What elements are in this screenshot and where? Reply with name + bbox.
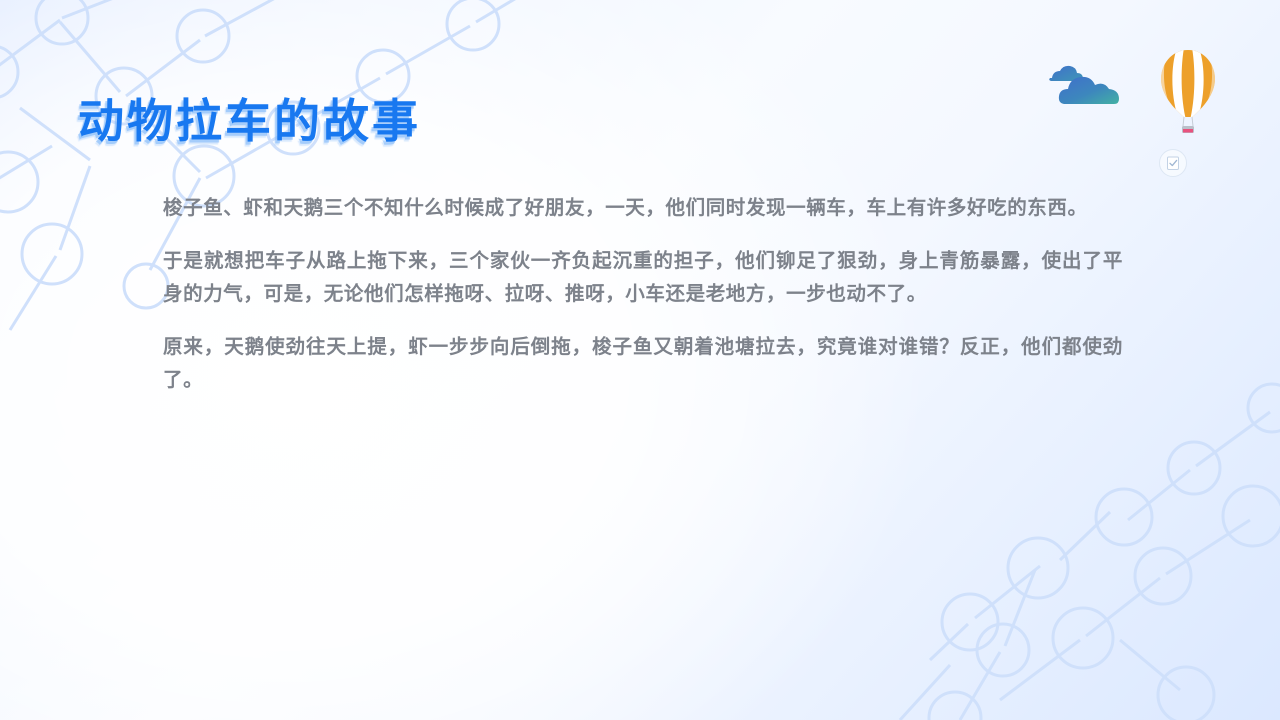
title-block: 动物拉车的故事 — [78, 96, 421, 148]
body-text-block: 梭子鱼、虾和天鹅三个不知什么时候成了好朋友，一天，他们同时发现一辆车，车上有许多… — [163, 192, 1123, 398]
paragraph-2: 于是就想把车子从路上拖下来，三个家伙一齐负起沉重的担子，他们铆足了狠劲，身上青筋… — [163, 245, 1123, 312]
cloud-icon — [1036, 58, 1136, 114]
document-check-icon — [1158, 148, 1188, 178]
paragraph-3: 原来，天鹅使劲往天上提，虾一步步向后倒拖，梭子鱼又朝着池塘拉去，究竟谁对谁错？反… — [163, 331, 1123, 398]
slide-canvas: 动物拉车的故事 梭子鱼、虾和天鹅三个不知什么时候成了好朋友，一天，他们同时发现一… — [0, 0, 1280, 720]
paragraph-1: 梭子鱼、虾和天鹅三个不知什么时候成了好朋友，一天，他们同时发现一辆车，车上有许多… — [163, 192, 1123, 226]
hot-air-balloon-icon — [1155, 48, 1221, 138]
page-title: 动物拉车的故事 — [78, 96, 421, 148]
